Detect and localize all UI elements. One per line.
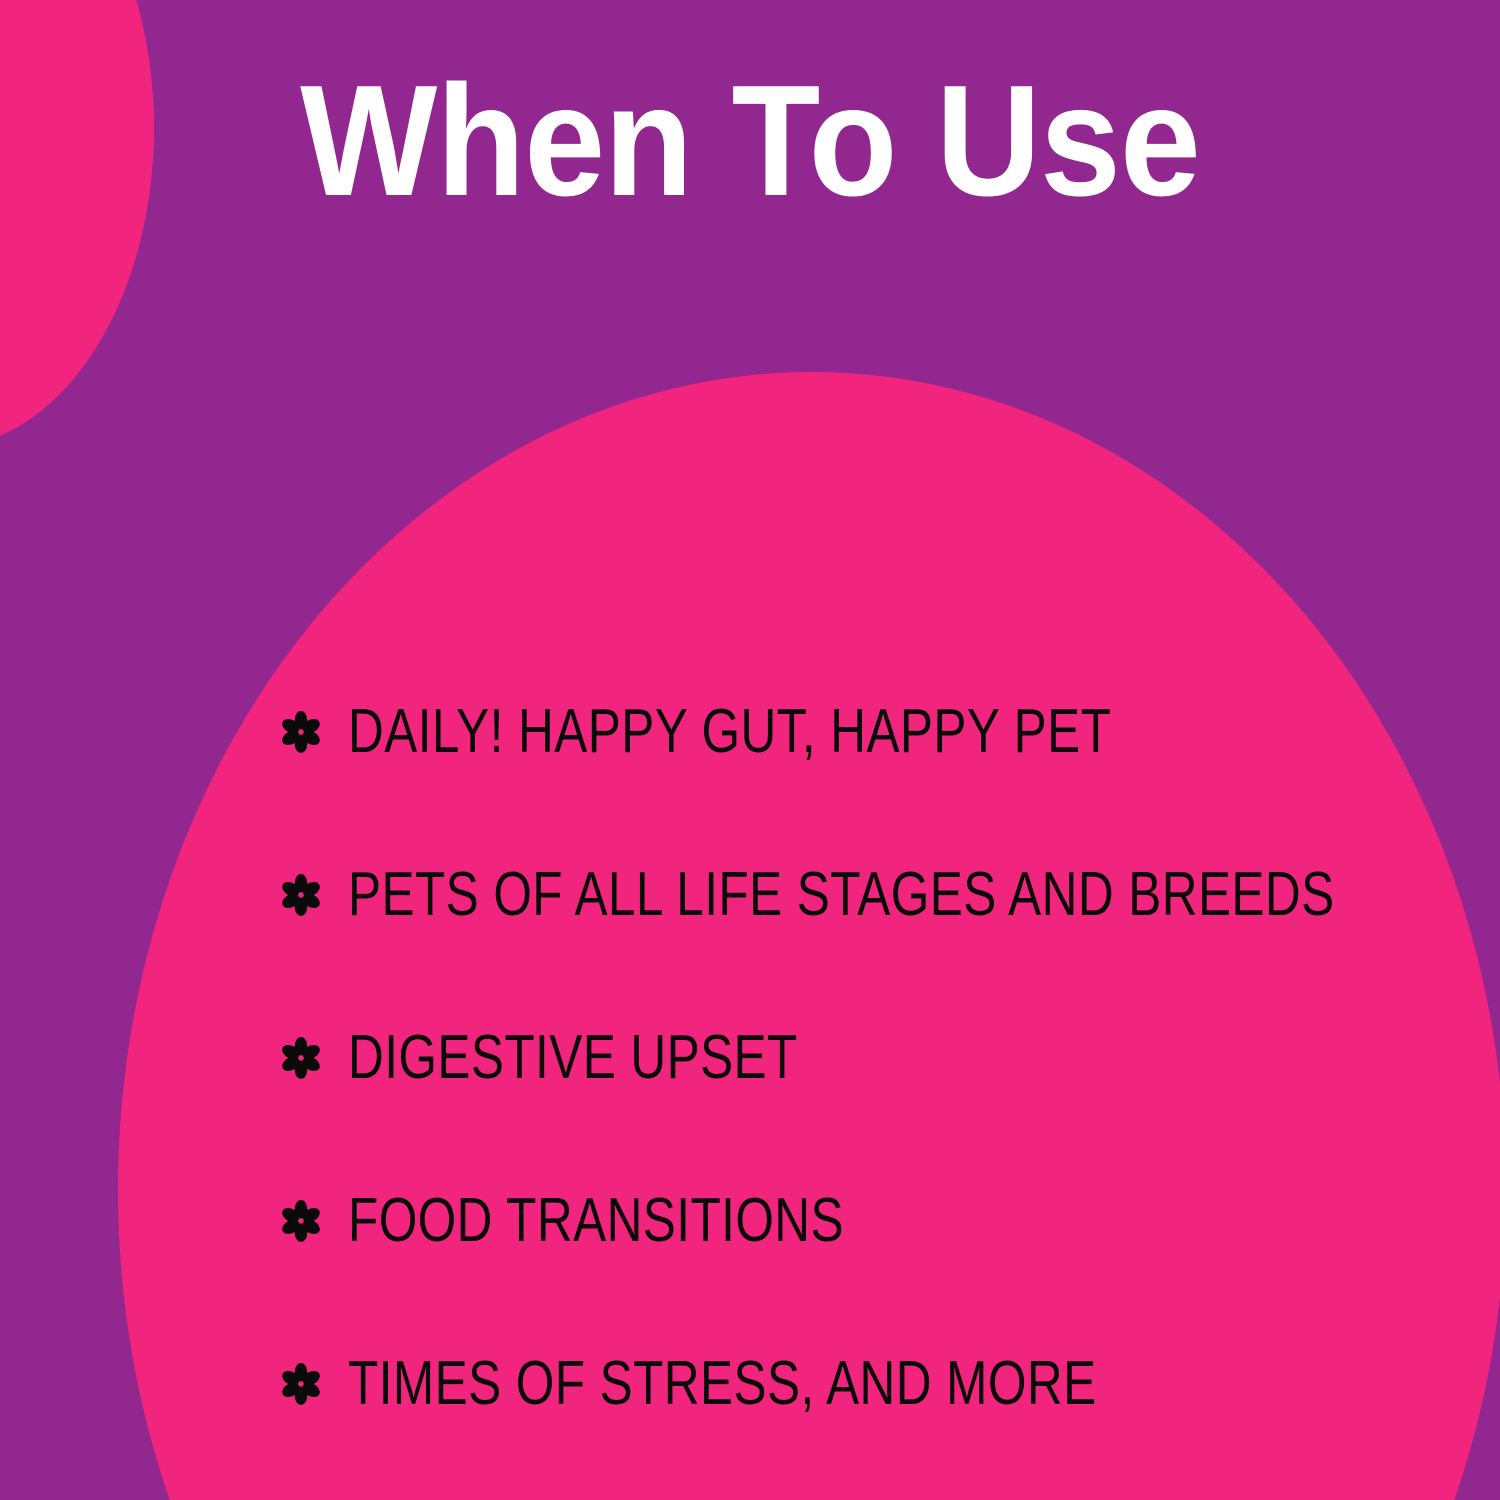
list-item: TIMES OF STRESS, AND MORE (280, 1302, 1460, 1465)
page-title: When To Use (60, 62, 1440, 220)
list-item: FOOD TRANSITIONS (280, 1139, 1460, 1302)
list-item: DIGESTIVE UPSET (280, 976, 1460, 1139)
flower-bullet-icon (280, 874, 322, 916)
flower-bullet-icon (280, 1363, 322, 1405)
flower-bullet-icon (280, 1200, 322, 1242)
list-item: PETS OF ALL LIFE STAGES AND BREEDS (280, 813, 1460, 976)
list-item-label: TIMES OF STRESS, AND MORE (348, 1353, 1097, 1415)
flower-bullet-icon (280, 711, 322, 753)
list-item: DAILY! HAPPY GUT, HAPPY PET (280, 650, 1460, 813)
list-item-label: DAILY! HAPPY GUT, HAPPY PET (348, 701, 1111, 763)
poster-canvas: When To Use DAILY! HAPPY GUT, HAPPY PET (0, 0, 1500, 1500)
list-item-label: PETS OF ALL LIFE STAGES AND BREEDS (348, 864, 1335, 926)
flower-bullet-icon (280, 1037, 322, 1079)
list-item-label: DIGESTIVE UPSET (348, 1027, 798, 1089)
when-to-use-list: DAILY! HAPPY GUT, HAPPY PET PETS OF ALL … (280, 650, 1460, 1465)
list-item-label: FOOD TRANSITIONS (348, 1190, 844, 1252)
